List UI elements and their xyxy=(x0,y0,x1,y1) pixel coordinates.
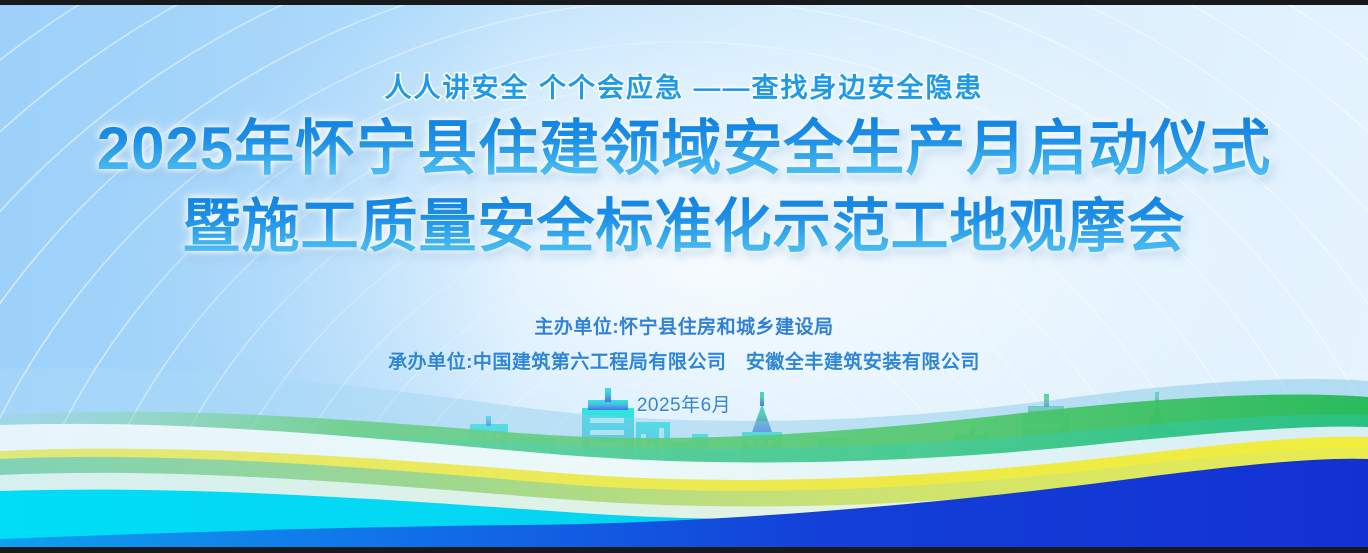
safety-slogan: 人人讲安全 个个会应急 ——查找身边安全隐患 xyxy=(0,66,1368,105)
title-line-2: 暨施工质量安全标准化示范工地观摩会 xyxy=(0,188,1368,266)
bottom-trim-strip xyxy=(0,547,1368,553)
banner-content: 人人讲安全 个个会应急 ——查找身边安全隐患 2025年怀宁县住建领域安全生产月… xyxy=(0,0,1368,553)
title-line-1: 2025年怀宁县住建领域安全生产月启动仪式 xyxy=(0,110,1368,188)
event-date: 2025年6月 xyxy=(0,390,1368,417)
co-organizers: 承办单位:中国建筑第六工程局有限公司 安徽全丰建筑安装有限公司 xyxy=(0,345,1368,380)
event-banner: 人人讲安全 个个会应急 ——查找身边安全隐患 2025年怀宁县住建领域安全生产月… xyxy=(0,0,1368,553)
host-organization: 主办单位:怀宁县住房和城乡建设局 xyxy=(0,310,1368,345)
main-title: 2025年怀宁县住建领域安全生产月启动仪式 暨施工质量安全标准化示范工地观摩会 xyxy=(0,110,1368,266)
top-trim-strip xyxy=(0,0,1368,5)
organizer-block: 主办单位:怀宁县住房和城乡建设局 承办单位:中国建筑第六工程局有限公司 安徽全丰… xyxy=(0,310,1368,417)
